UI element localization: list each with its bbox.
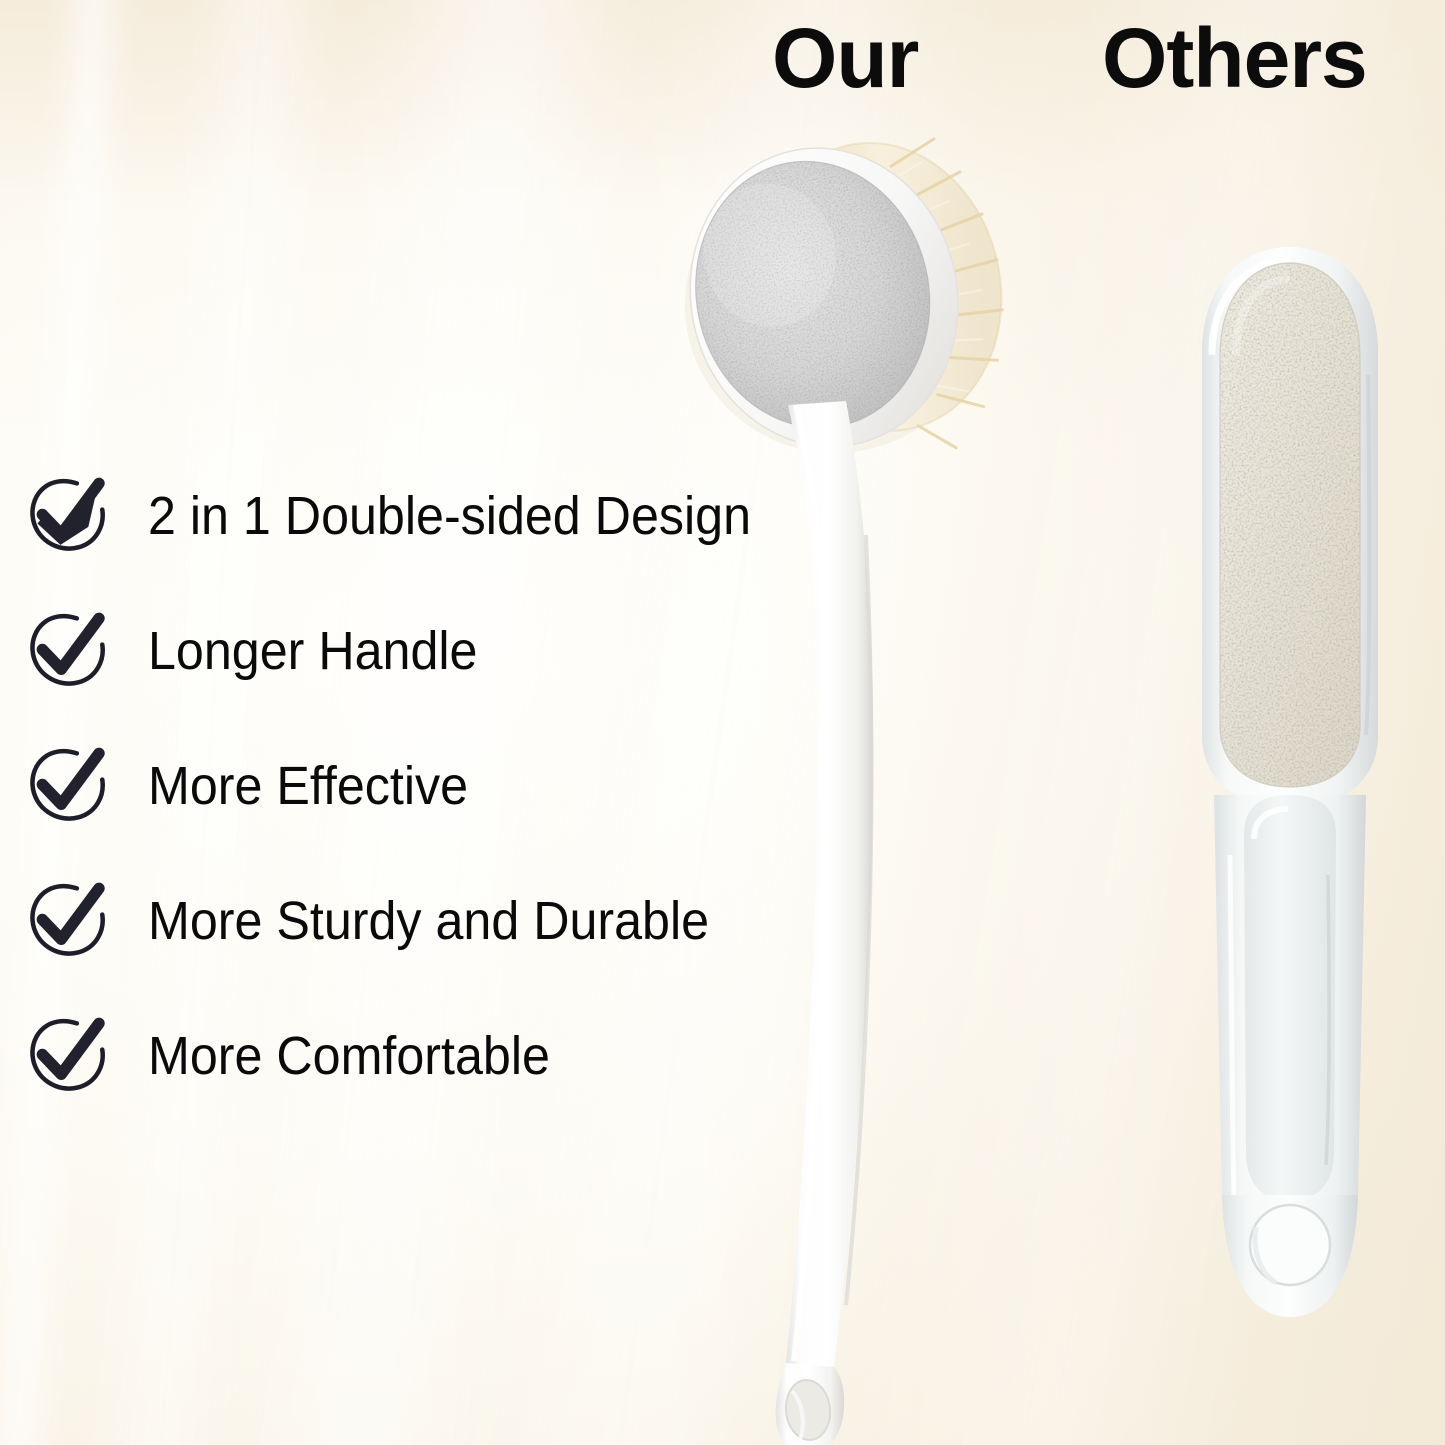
check-circle-icon bbox=[26, 1016, 108, 1098]
product-image-others bbox=[1150, 235, 1430, 1385]
feature-label: Longer Handle bbox=[148, 613, 477, 689]
brush-handle bbox=[786, 401, 873, 1367]
other-handle-hanging-end bbox=[1222, 1195, 1358, 1317]
other-handle-grip bbox=[1244, 795, 1336, 1201]
column-header-ours: Our bbox=[772, 16, 918, 100]
feature-label: More Comfortable bbox=[148, 1018, 550, 1094]
check-circle-icon bbox=[26, 611, 108, 693]
handle-hanging-end bbox=[776, 1363, 844, 1445]
check-circle-icon bbox=[26, 881, 108, 963]
column-header-others: Others bbox=[1102, 16, 1367, 100]
other-pumice-stone bbox=[1220, 263, 1360, 787]
product-comparison-image: Our Others 2 in 1 Double-sided Design Lo… bbox=[0, 0, 1445, 1445]
product-image-ours bbox=[620, 105, 1080, 1445]
check-circle-icon bbox=[26, 476, 108, 558]
feature-label: More Effective bbox=[148, 748, 468, 824]
check-circle-icon bbox=[26, 746, 108, 828]
